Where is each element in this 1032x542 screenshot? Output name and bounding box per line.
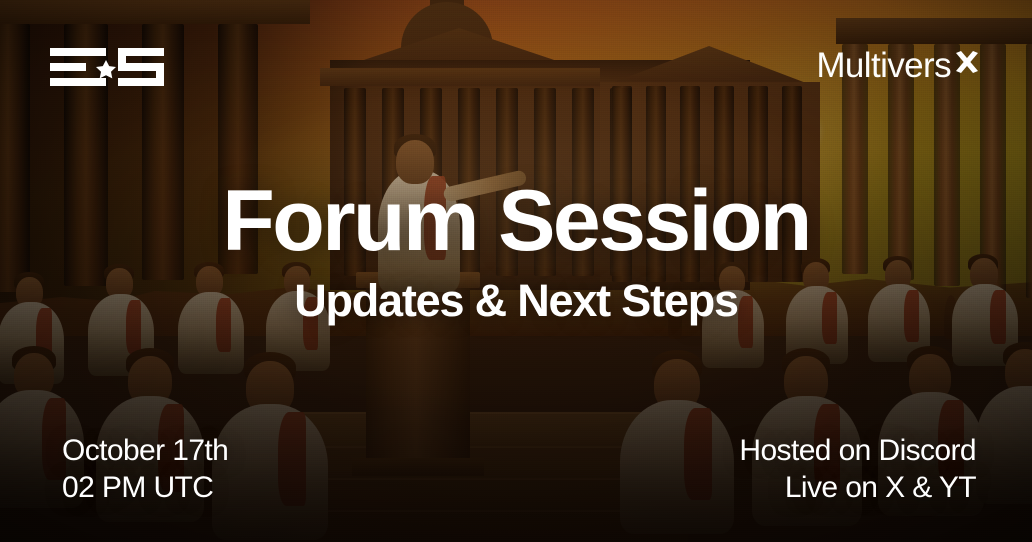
- headline-block: Forum Session Updates & Next Steps: [0, 178, 1032, 323]
- schedule-block: October 17th 02 PM UTC: [62, 432, 228, 506]
- es-star-logo[interactable]: [48, 46, 166, 90]
- event-banner: Multivers Forum Session Updates & Next S…: [0, 0, 1032, 542]
- event-time: 02 PM UTC: [62, 469, 228, 506]
- page-subtitle: Updates & Next Steps: [0, 278, 1032, 323]
- host-channel: Hosted on Discord: [739, 432, 976, 469]
- page-title: Forum Session: [0, 178, 1032, 264]
- multiversx-wordmark: Multivers: [816, 48, 951, 83]
- channels-block: Hosted on Discord Live on X & YT: [739, 432, 976, 506]
- stream-channels: Live on X & YT: [739, 469, 976, 506]
- event-date: October 17th: [62, 432, 228, 469]
- multiversx-logo[interactable]: Multivers: [816, 48, 980, 83]
- multiversx-x-icon: [954, 50, 980, 76]
- content-overlay: Multivers Forum Session Updates & Next S…: [0, 0, 1032, 542]
